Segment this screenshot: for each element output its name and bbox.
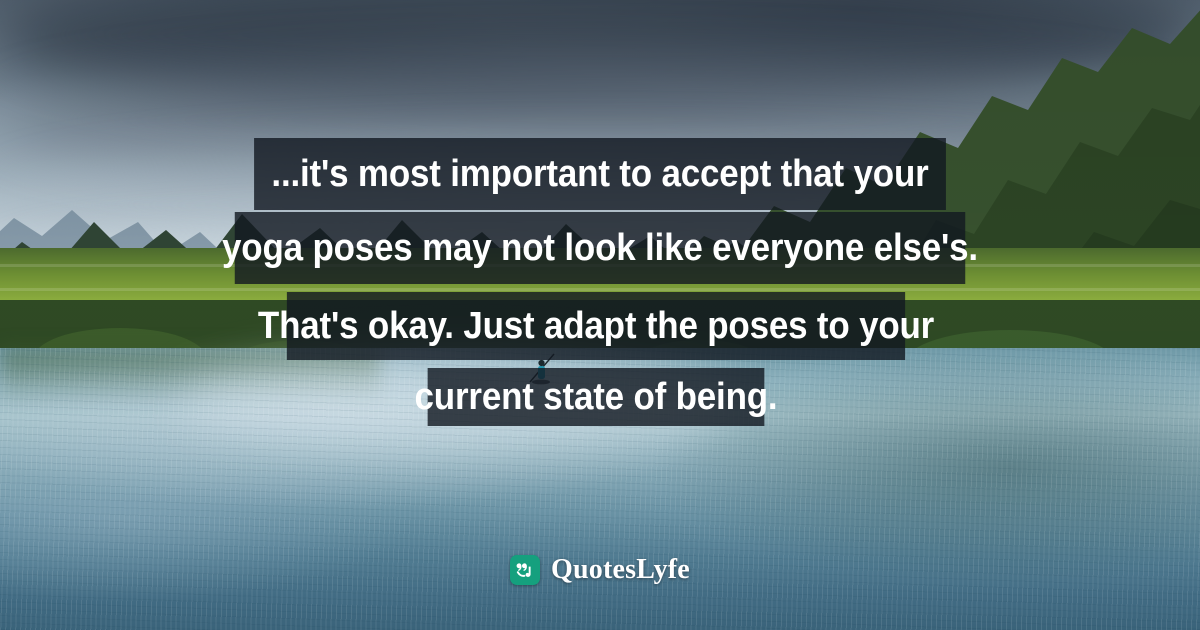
quote-text-block: ...it's most important to accept that yo… [0, 0, 1200, 630]
quoteslyfe-logo-icon [510, 555, 540, 585]
watermark[interactable]: QuotesLyfe [0, 554, 1200, 586]
quote-line-4: current state of being. [428, 368, 765, 426]
quote-line-3: That's okay. Just adapt the poses to you… [287, 292, 905, 360]
quote-line-2: yoga poses may not look like everyone el… [235, 212, 965, 284]
quoteslyfe-brand-text: QuotesLyfe [551, 554, 690, 586]
quote-card: ...it's most important to accept that yo… [0, 0, 1200, 630]
quote-line-1: ...it's most important to accept that yo… [254, 138, 946, 210]
